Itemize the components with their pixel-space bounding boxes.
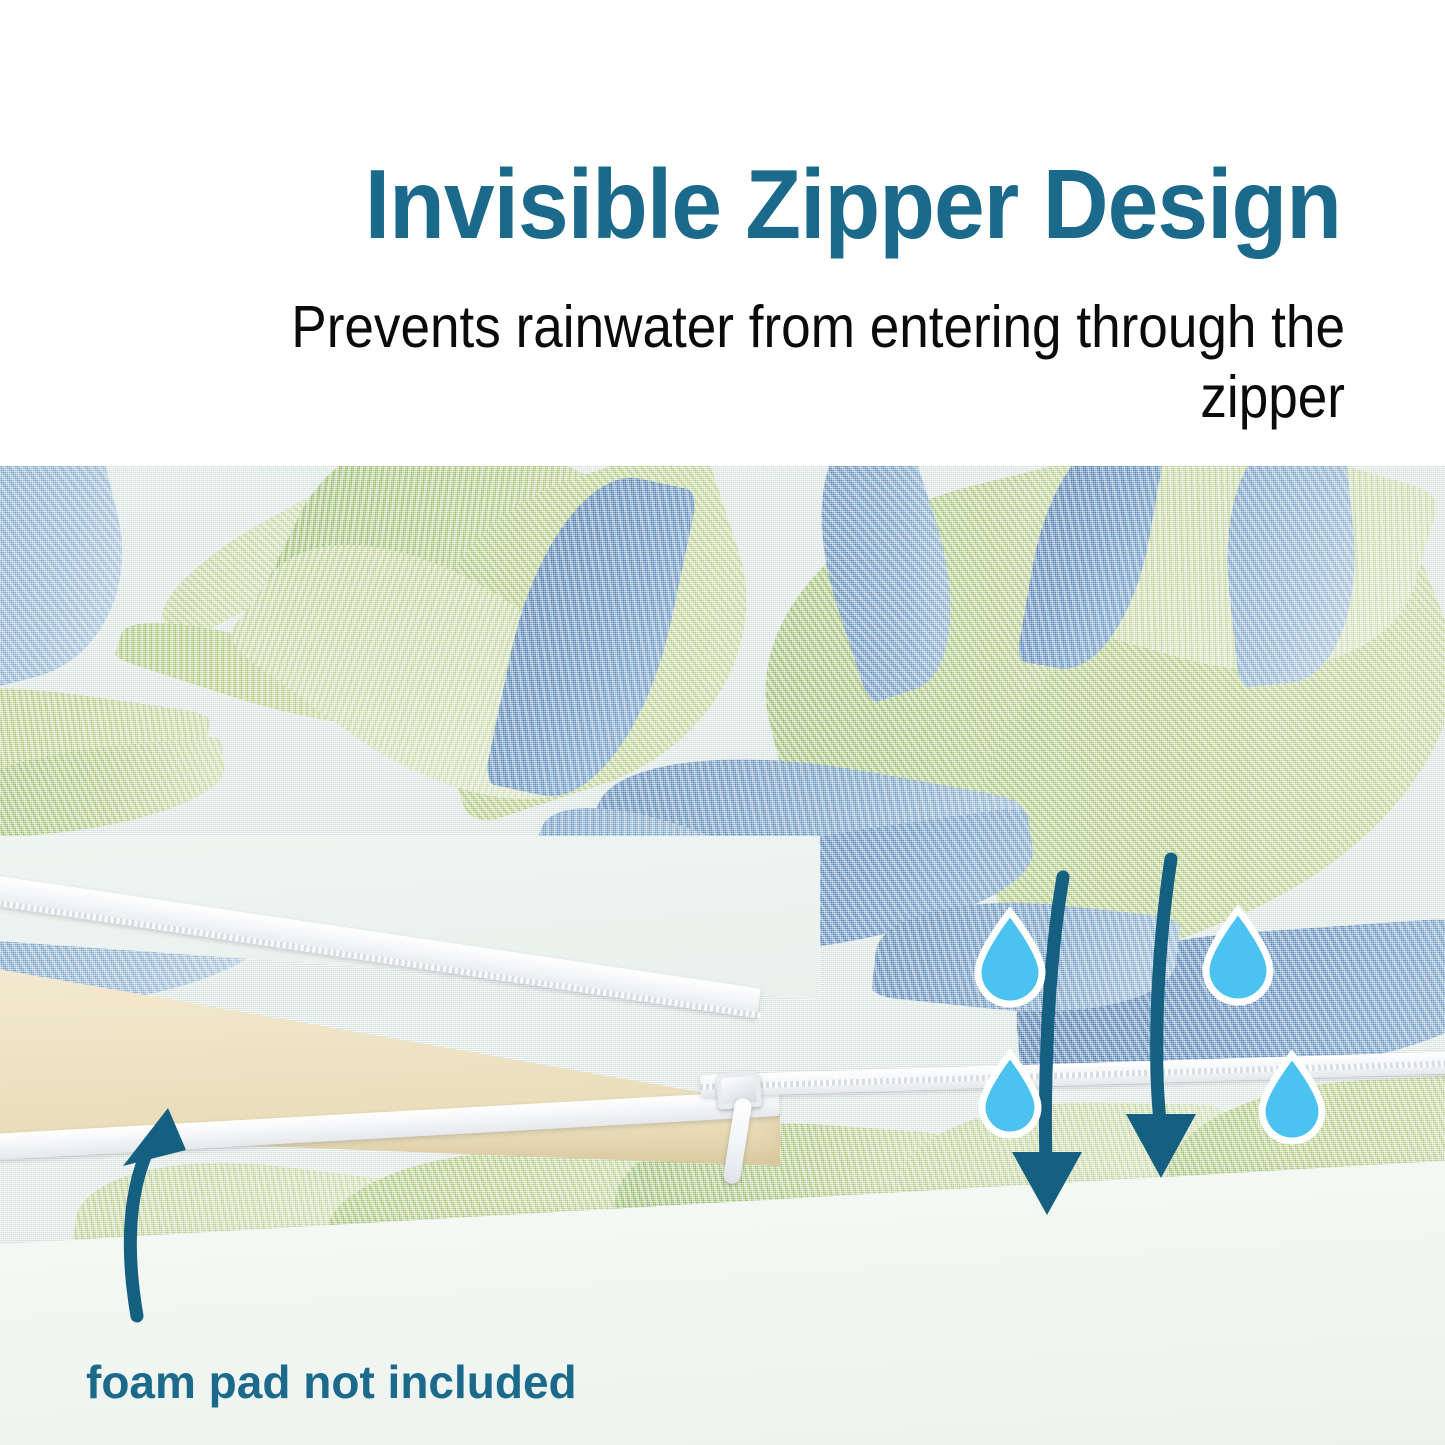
leaf-green-right-1 bbox=[726, 466, 1206, 838]
foam-pad-caption: foam pad not included bbox=[86, 1357, 577, 1407]
leaf-green-center-3 bbox=[224, 479, 649, 864]
leaf-blue-topleft bbox=[0, 466, 151, 697]
leaf-green-left-1 bbox=[0, 667, 211, 804]
leaf-blue-right-3 bbox=[1213, 466, 1368, 688]
leaf-blue-right-2 bbox=[1016, 466, 1166, 680]
leaf-green-right-2 bbox=[913, 497, 1445, 998]
leaf-green-center-2 bbox=[378, 466, 794, 827]
leaf-blue-center-1 bbox=[483, 466, 698, 814]
page-subtitle: Prevents rainwater from entering through… bbox=[135, 292, 1346, 432]
leaf-green-left-3 bbox=[144, 467, 398, 646]
leaf-green-right-3 bbox=[1051, 466, 1441, 714]
leaf-blue-right-1 bbox=[789, 466, 983, 704]
leaf-green-left-2 bbox=[0, 735, 229, 845]
leaf-green-center-1 bbox=[252, 466, 640, 744]
leaf-green-left-4 bbox=[113, 597, 418, 751]
product-infographic: Invisible Zipper Design Prevents rainwat… bbox=[0, 0, 1445, 1445]
header-panel: Invisible Zipper Design Prevents rainwat… bbox=[0, 0, 1445, 466]
product-photo bbox=[0, 466, 1445, 1445]
page-title: Invisible Zipper Design bbox=[94, 152, 1341, 256]
leaf-blue-droplet-band-2 bbox=[871, 887, 1181, 1028]
